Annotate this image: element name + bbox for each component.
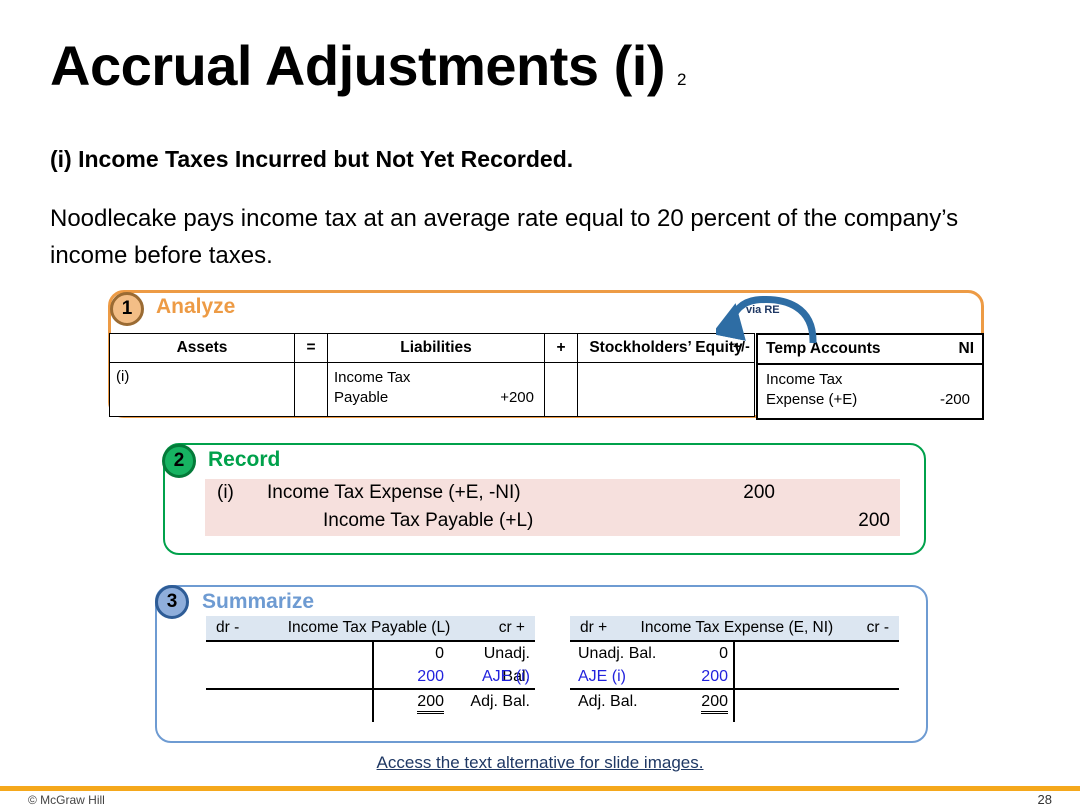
journal-entry-debit-account: Income Tax Expense (+E, -NI) (267, 479, 521, 507)
row-reference: (i) (116, 368, 129, 385)
via-re-label: via RE (746, 304, 780, 316)
t-account-header: dr - Income Tax Payable (L) cr + (206, 616, 535, 640)
t-account-title: Income Tax Payable (L) (239, 616, 498, 640)
t-account-balance-amount: 200 (378, 690, 444, 713)
t-account-balance-amount-value: 200 (417, 693, 444, 714)
temp-account-line1: Income Tax (766, 370, 842, 390)
t-account-balance-row: Adj. Bal. 200 (570, 690, 899, 722)
t-account-balance-label: Adj. Bal. (578, 690, 638, 713)
step-badge-1: 1 (110, 292, 144, 326)
t-account-entry-amount: 200 (666, 665, 728, 688)
page-title: Accrual Adjustments (i)2 (50, 38, 686, 94)
footer-page-number: 28 (1038, 792, 1052, 807)
t-account-title: Income Tax Expense (E, NI) (607, 616, 866, 640)
t-account-entry-amount: 200 (378, 665, 444, 688)
t-account-balance-amount-value: 200 (701, 693, 728, 714)
page-title-text: Accrual Adjustments (i) (50, 34, 665, 97)
journal-entry-debit-amount: 200 (715, 479, 775, 507)
t-account-entry-row: AJE (i) 200 (570, 665, 899, 688)
page-title-superscript: 2 (677, 70, 686, 89)
t-account-dr-label: dr - (216, 616, 239, 640)
t-account-entries: 0 Unadj. Bal. 200 AJE (i) (206, 642, 535, 688)
slide-body-text: Noodlecake pays income tax at an average… (50, 200, 1000, 274)
table-header-row: Assets = Liabilities + Stockholders’ Equ… (110, 334, 755, 363)
t-account-income-tax-payable: dr - Income Tax Payable (L) cr + 0 Unadj… (206, 616, 535, 722)
temp-account-line2: Expense (+E) (766, 390, 857, 410)
cell-plus (545, 363, 578, 417)
alt-text-link[interactable]: Access the text alternative for slide im… (0, 753, 1080, 773)
t-account-balance-amount: 200 (666, 690, 728, 713)
t-account-body: 0 Unadj. Bal. 200 AJE (i) 200 Adj. Bal. (206, 640, 535, 722)
temp-line-2: Expense (+E) -200 (766, 390, 974, 410)
t-account-dr-label: dr + (580, 616, 607, 640)
table-row: Income Tax Expense (+E) -200 (757, 364, 983, 419)
journal-entry-credit-row: Income Tax Payable (+L) 200 (205, 507, 900, 535)
table-row: (i) Income Tax Payable +200 (110, 363, 755, 417)
t-account-entry-row: 200 AJE (i) (206, 665, 535, 688)
t-account-entry-row: 0 Unadj. Bal. (206, 642, 535, 665)
header-equals: = (295, 334, 328, 363)
step-badge-3: 3 (155, 585, 189, 619)
t-account-entry-label: AJE (i) (452, 665, 530, 688)
footer-divider-bar (0, 786, 1080, 791)
header-plus: + (545, 334, 578, 363)
journal-entry-credit-account: Income Tax Payable (+L) (323, 507, 533, 535)
liability-account-line2: Payable (334, 388, 388, 408)
accounting-equation-table: Assets = Liabilities + Stockholders’ Equ… (109, 333, 755, 417)
cell-stockholders-equity (578, 363, 755, 417)
t-account-entry-row: Unadj. Bal. 0 (570, 642, 899, 665)
t-account-entry-amount: 0 (378, 642, 444, 665)
t-account-header: dr + Income Tax Expense (E, NI) cr - (570, 616, 899, 640)
via-re-curved-arrow-icon (716, 291, 826, 347)
record-label: Record (208, 448, 280, 472)
alt-text-link-label: Access the text alternative for slide im… (377, 753, 704, 772)
t-account-entry-label: AJE (i) (578, 665, 626, 688)
step-badge-2: 2 (162, 444, 196, 478)
t-account-balance-label: Adj. Bal. (452, 690, 530, 713)
slide-subtitle: (i) Income Taxes Incurred but Not Yet Re… (50, 146, 573, 173)
header-ni: NI (959, 340, 975, 358)
t-account-entries: Unadj. Bal. 0 AJE (i) 200 (570, 642, 899, 688)
t-account-entry-label: Unadj. Bal. (578, 642, 656, 665)
t-account-entry-amount: 0 (666, 642, 728, 665)
t-account-balance-line: 200 Adj. Bal. (206, 690, 535, 713)
journal-entry-debit-row: (i) Income Tax Expense (+E, -NI) 200 (205, 479, 900, 507)
liability-account-line1: Income Tax (334, 368, 410, 388)
journal-entry-reference: (i) (217, 479, 234, 507)
t-account-body: Unadj. Bal. 0 AJE (i) 200 Adj. Bal. 200 (570, 640, 899, 722)
t-account-balance-row: 200 Adj. Bal. (206, 690, 535, 722)
header-liabilities: Liabilities (328, 334, 545, 363)
cell-temp-accounts: Income Tax Expense (+E) -200 (757, 364, 983, 419)
footer-copyright: © McGraw Hill (28, 793, 105, 807)
liability-line-1: Income Tax (334, 368, 538, 388)
t-account-balance-line: Adj. Bal. 200 (570, 690, 899, 713)
cell-assets: (i) (110, 363, 295, 417)
temp-amount: -200 (940, 390, 974, 410)
journal-entry: (i) Income Tax Expense (+E, -NI) 200 Inc… (205, 479, 900, 536)
t-account-cr-label: cr + (499, 616, 525, 640)
t-account-income-tax-expense: dr + Income Tax Expense (E, NI) cr - Una… (570, 616, 899, 722)
cell-equals (295, 363, 328, 417)
header-assets: Assets (110, 334, 295, 363)
temp-line-1: Income Tax (766, 370, 974, 390)
journal-entry-credit-amount: 200 (830, 507, 890, 535)
summarize-label: Summarize (202, 590, 314, 614)
analyze-label: Analyze (156, 295, 235, 319)
liability-amount: +200 (500, 388, 538, 408)
cell-liabilities: Income Tax Payable +200 (328, 363, 545, 417)
liability-line-2: Payable +200 (334, 388, 538, 408)
t-account-cr-label: cr - (867, 616, 889, 640)
